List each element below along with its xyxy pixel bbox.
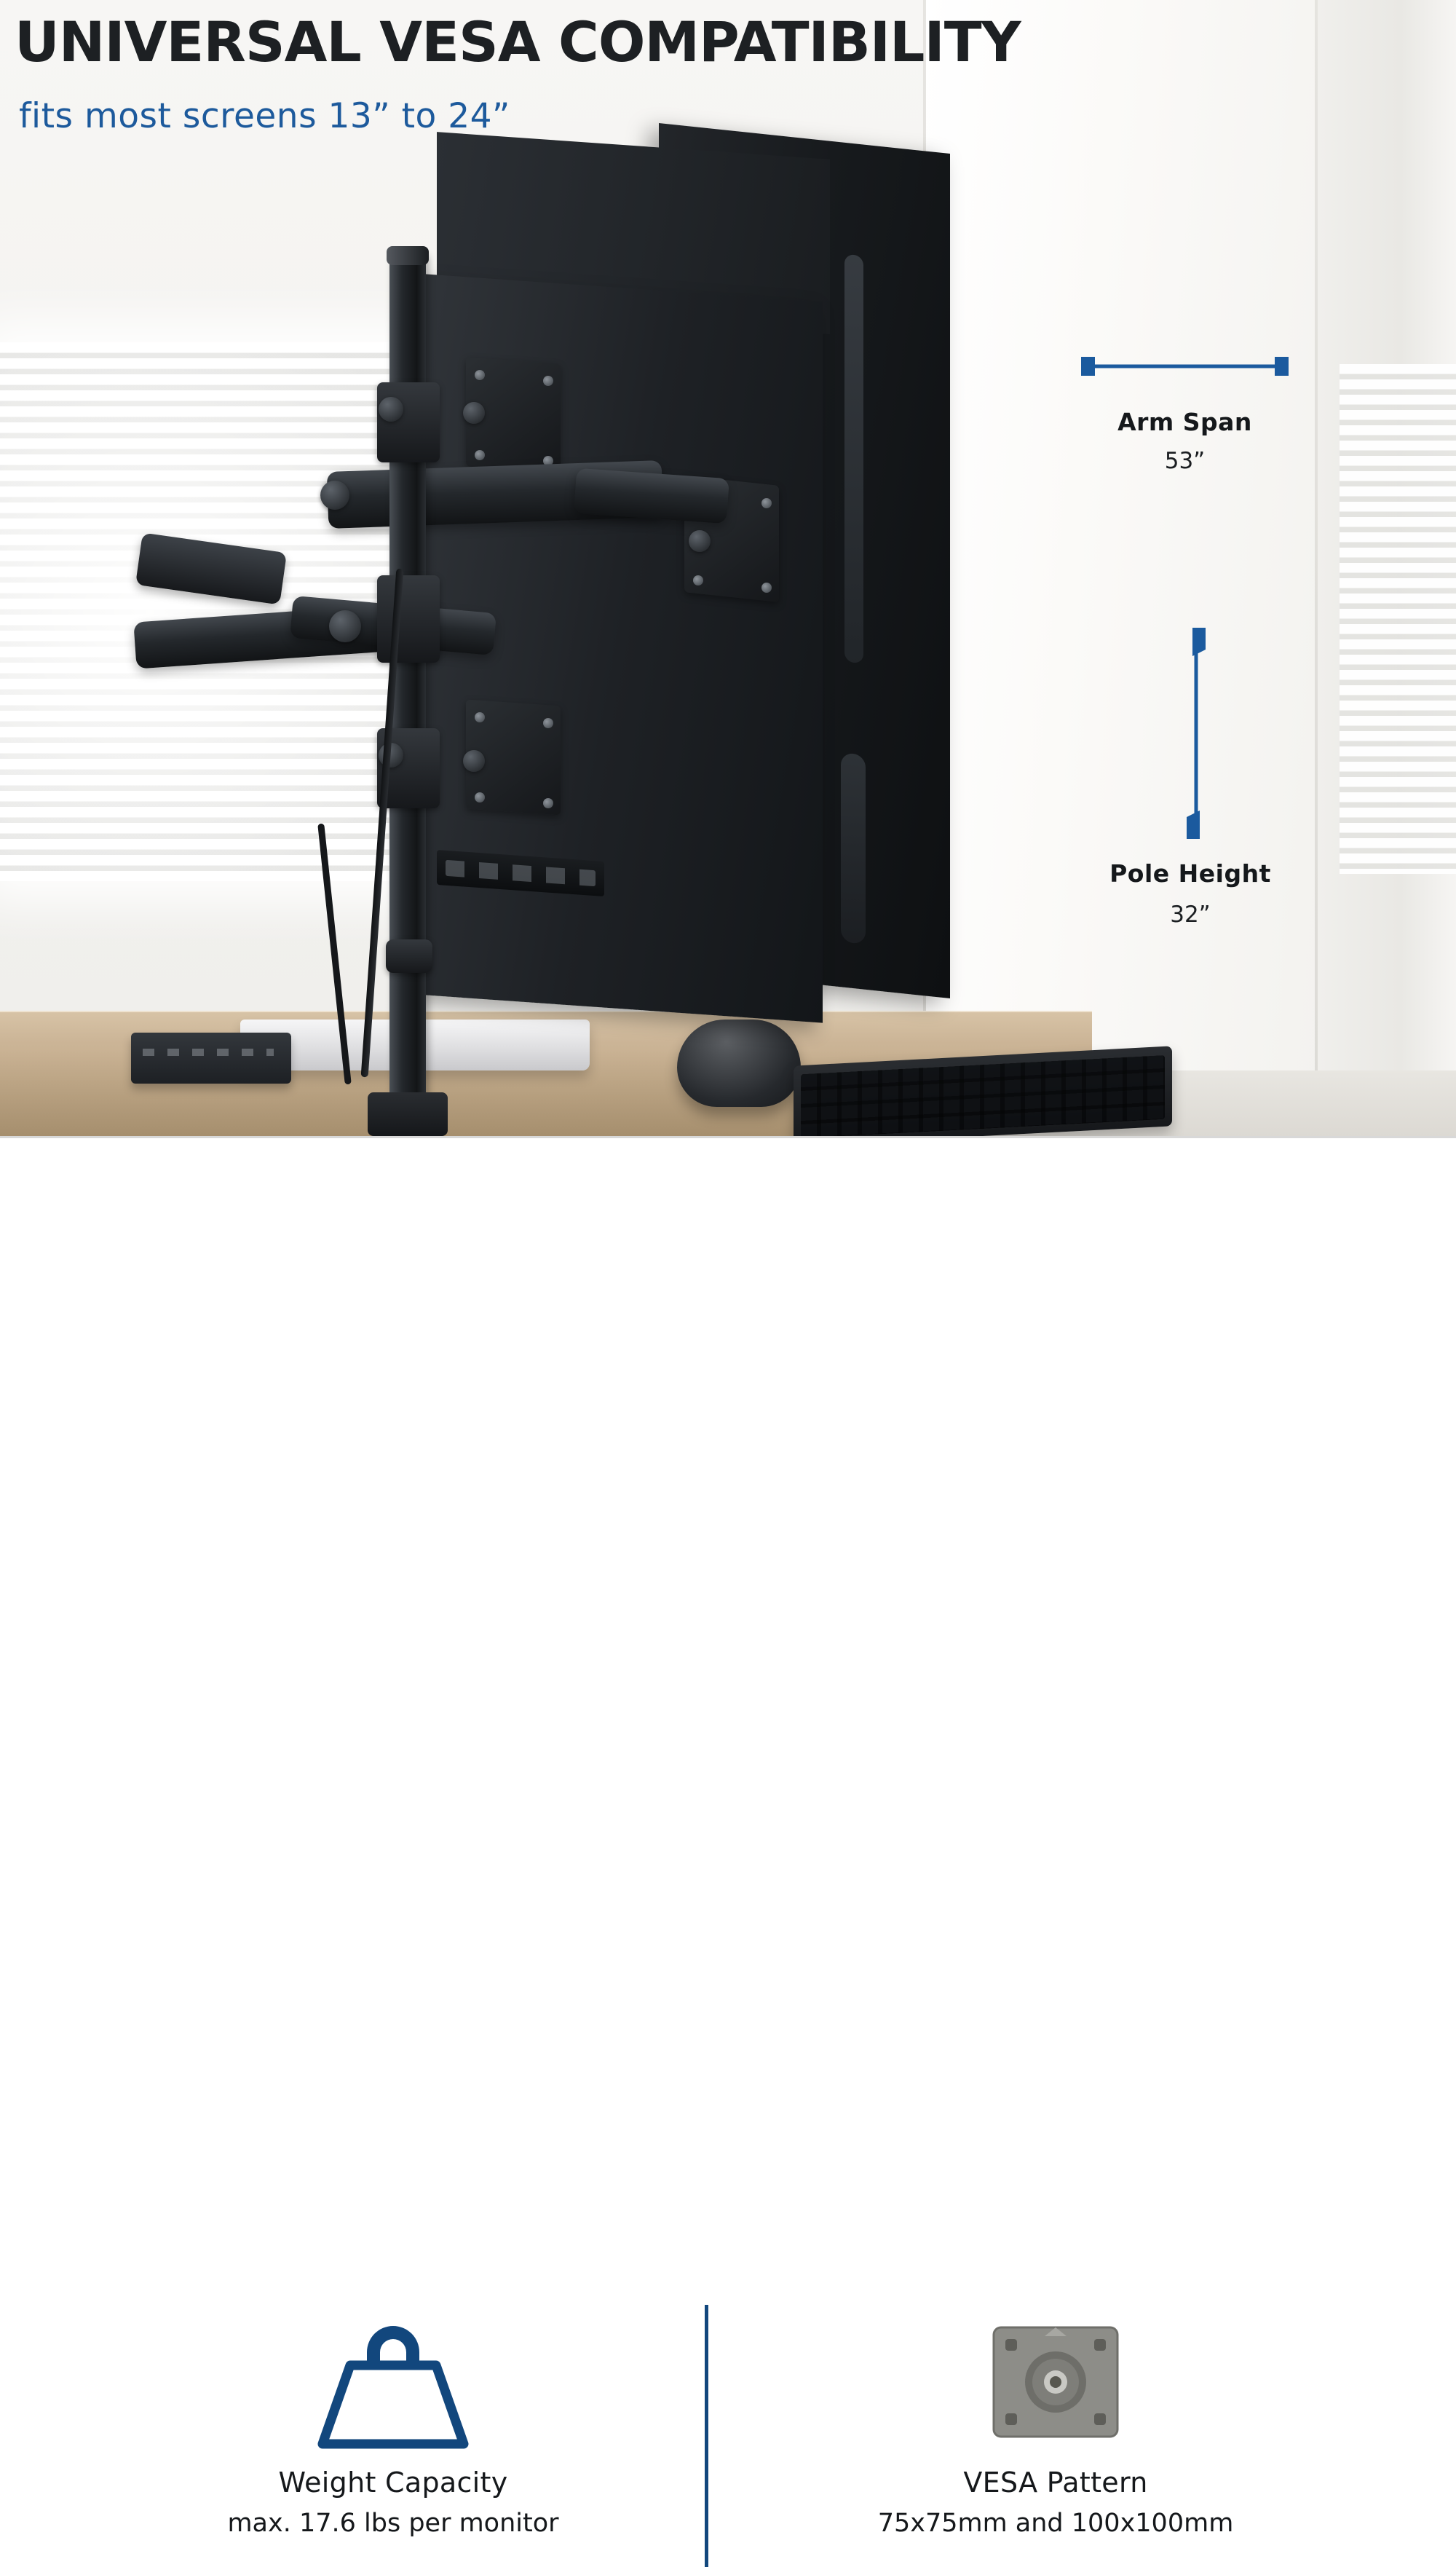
tilt-knob — [689, 530, 711, 552]
feature-vesa-pattern: VESA Pattern 75x75mm and 100x100mm — [764, 2311, 1347, 2538]
page-title: UNIVERSAL VESA COMPATIBILITY — [15, 15, 1441, 70]
vesa-pattern-value: 75x75mm and 100x100mm — [764, 2509, 1347, 2538]
page-subtitle: fits most screens 13” to 24” — [19, 96, 510, 136]
dock-ports — [143, 1049, 274, 1056]
product-photo: UNIVERSAL VESA COMPATIBILITY fits most s… — [0, 0, 1456, 1136]
pole-clamp-upper — [377, 382, 440, 462]
mount-pole-cap — [387, 246, 429, 265]
vesa-pattern-title: VESA Pattern — [764, 2467, 1347, 2499]
monitor-rear-vent — [844, 254, 863, 664]
vesa-screw — [543, 798, 553, 808]
wall-corner-edge-secondary — [1315, 0, 1318, 1136]
adjustment-knob — [379, 397, 403, 422]
arm-span-label: Arm Span — [1081, 408, 1289, 436]
weight-icon — [116, 2311, 670, 2456]
cable-clip — [386, 939, 432, 973]
wall-right — [925, 0, 1318, 1136]
pole-height-label: Pole Height — [1070, 859, 1310, 888]
feature-vertical-divider — [705, 2305, 708, 2567]
feature-bar: Weight Capacity max. 17.6 lbs per monito… — [0, 1138, 1456, 1456]
window-right-blinds — [1340, 364, 1456, 874]
vesa-screw — [543, 718, 553, 728]
pole-height-arrow — [1187, 628, 1206, 839]
pole-clamp-middle — [377, 575, 440, 663]
keyboard-keys — [801, 1055, 1165, 1136]
mount-pole-base — [368, 1092, 448, 1136]
vesa-screw — [761, 498, 772, 508]
pole-height-value: 32” — [1070, 902, 1310, 928]
weight-capacity-title: Weight Capacity — [116, 2467, 670, 2499]
vesa-screw — [543, 376, 553, 386]
vesa-plate-icon — [764, 2311, 1347, 2456]
vesa-screw — [475, 370, 485, 380]
arm-span-value: 53” — [1081, 448, 1289, 474]
joint-knob — [329, 610, 361, 642]
vesa-screw — [475, 792, 485, 803]
vesa-screw — [475, 712, 485, 722]
vesa-screw — [475, 450, 485, 460]
joint-knob — [320, 481, 349, 510]
tilt-knob — [463, 750, 485, 772]
computer-mouse — [677, 1020, 801, 1107]
vesa-screw — [693, 575, 703, 585]
monitor-rear-vent-lower — [841, 752, 866, 945]
feature-weight-capacity: Weight Capacity max. 17.6 lbs per monito… — [116, 2311, 670, 2538]
tilt-knob — [463, 402, 485, 424]
weight-capacity-value: max. 17.6 lbs per monitor — [116, 2509, 670, 2538]
arm-span-arrow — [1081, 357, 1289, 376]
usb-dock — [131, 1033, 291, 1084]
vesa-screw — [761, 583, 772, 593]
